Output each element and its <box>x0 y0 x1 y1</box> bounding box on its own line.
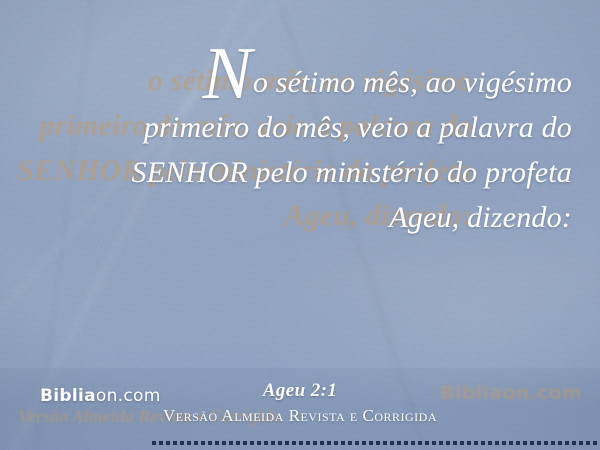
verse-line-2: primeiro do mês, veio a palavra do <box>0 105 572 150</box>
verse-text-main: No sétimo mês, ao vigésimo primeiro do m… <box>0 52 572 240</box>
bottom-dashed-rule <box>152 441 600 445</box>
verse-text-block: No sétimo mês, ao vigésimo primeiro do m… <box>0 52 572 240</box>
bible-version-label: Versão Almeida Revista e Corrigida <box>0 406 600 426</box>
verse-line-1: No sétimo mês, ao vigésimo <box>0 52 572 105</box>
verse-image-canvas: o sétimo mês, ao vigésimo primeiro do mê… <box>0 0 600 450</box>
verse-reference: Ageu 2:1 <box>0 380 600 402</box>
footer: Versão Almeida Revista e Corrigida Bibli… <box>0 378 600 450</box>
verse-line-3: SENHOR pelo ministério do profeta <box>0 150 572 195</box>
verse-line-1-text: o sétimo mês, ao vigésimo <box>253 66 572 99</box>
verse-line-4: Ageu, dizendo: <box>0 195 572 240</box>
verse-dropcap: N <box>203 33 253 115</box>
verse-reference-block: Ageu 2:1 Versão Almeida Revista e Corrig… <box>0 380 600 426</box>
